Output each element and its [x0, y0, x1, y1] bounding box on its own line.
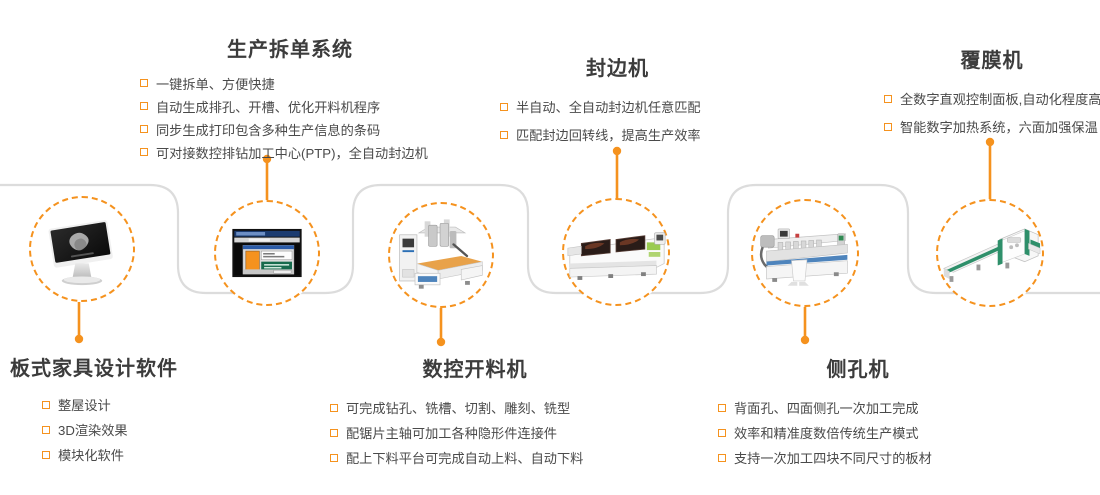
list-item-label: 同步生成打印包含多种生产信息的条码 [156, 123, 380, 138]
list-item-label: 可对接数控排钻加工中心(PTP)，全自动封边机 [156, 146, 428, 161]
checkbox-icon [42, 451, 50, 459]
checkbox-icon [718, 454, 726, 462]
checkbox-icon [718, 429, 726, 437]
list-item: 半自动、全自动封边机任意匹配 [500, 94, 735, 122]
bullet-list: 可完成钻孔、铣槽、切割、雕刻、铣型 配锯片主轴可加工各种隐形件连接件 配上下料平… [330, 396, 620, 471]
list-item: 配上下料平台可完成自动上料、自动下料 [330, 446, 620, 471]
list-item: 匹配封边回转线，提高生产效率 [500, 122, 735, 150]
list-item: 配锯片主轴可加工各种隐形件连接件 [330, 421, 620, 446]
list-item-label: 背面孔、四面侧孔一次加工完成 [734, 401, 919, 416]
node-design-software[interactable] [29, 196, 135, 302]
block-side-hole-drilling-machine: 侧孔机 背面孔、四面侧孔一次加工完成 效率和精准度数倍传统生产模式 支持一次加工… [718, 358, 998, 471]
side-driller-icon [753, 201, 857, 305]
node-split-software[interactable] [214, 200, 320, 306]
list-item: 背面孔、四面侧孔一次加工完成 [718, 396, 998, 421]
list-item-label: 模块化软件 [58, 448, 124, 463]
bullet-list: 整屋设计 3D渲染效果 模块化软件 [10, 393, 190, 468]
node-cnc-router[interactable] [388, 202, 494, 308]
list-item: 一键拆单、方便快捷 [140, 73, 440, 96]
infographic-canvas: 生产拆单系统 一键拆单、方便快捷 自动生成排孔、开槽、优化开料机程序 同步生成打… [0, 0, 1100, 495]
checkbox-icon [140, 102, 148, 110]
checkbox-icon [884, 123, 892, 131]
bullet-list: 背面孔、四面侧孔一次加工完成 效率和精准度数倍传统生产模式 支持一次加工四块不同… [718, 396, 998, 471]
laminator-icon [938, 201, 1042, 305]
checkbox-icon [330, 454, 338, 462]
list-item: 同步生成打印包含多种生产信息的条码 [140, 119, 440, 142]
node-edge-bander[interactable] [562, 198, 670, 306]
list-item-label: 3D渲染效果 [58, 423, 128, 438]
list-item-label: 匹配封边回转线，提高生产效率 [516, 128, 701, 143]
list-item: 智能数字加热系统，六面加强保温 [884, 114, 1100, 142]
software-screenshot-icon [216, 202, 318, 304]
block-title: 板式家具设计软件 [10, 357, 190, 381]
checkbox-icon [500, 103, 508, 111]
block-edge-banding-machine: 封边机 半自动、全自动封边机任意匹配 匹配封边回转线，提高生产效率 [500, 57, 735, 150]
block-title: 数控开料机 [330, 358, 620, 382]
checkbox-icon [500, 131, 508, 139]
block-cnc-cutting-machine: 数控开料机 可完成钻孔、铣槽、切割、雕刻、铣型 配锯片主轴可加工各种隐形件连接件… [330, 358, 620, 471]
block-production-split-order-system: 生产拆单系统 一键拆单、方便快捷 自动生成排孔、开槽、优化开料机程序 同步生成打… [140, 38, 440, 165]
list-item: 模块化软件 [42, 443, 190, 468]
list-item-label: 配上下料平台可完成自动上料、自动下料 [346, 451, 583, 466]
list-item-label: 全数字直观控制面板,自动化程度高 [900, 92, 1100, 107]
list-item: 可完成钻孔、铣槽、切割、雕刻、铣型 [330, 396, 620, 421]
list-item-label: 效率和精准度数倍传统生产模式 [734, 426, 919, 441]
list-item-label: 半自动、全自动封边机任意匹配 [516, 100, 701, 115]
bullet-list: 一键拆单、方便快捷 自动生成排孔、开槽、优化开料机程序 同步生成打印包含多种生产… [140, 73, 440, 165]
block-title: 封边机 [500, 57, 735, 81]
list-item: 自动生成排孔、开槽、优化开料机程序 [140, 96, 440, 119]
checkbox-icon [140, 125, 148, 133]
list-item-label: 智能数字加热系统，六面加强保温 [900, 120, 1098, 135]
list-item: 3D渲染效果 [42, 418, 190, 443]
list-item-label: 可完成钻孔、铣槽、切割、雕刻、铣型 [346, 401, 570, 416]
list-item-label: 配锯片主轴可加工各种隐形件连接件 [346, 426, 557, 441]
checkbox-icon [140, 79, 148, 87]
cnc-router-icon [390, 204, 492, 306]
list-item: 整屋设计 [42, 393, 190, 418]
edge-bander-icon [564, 200, 668, 304]
node-laminator[interactable] [936, 199, 1044, 307]
block-title: 覆膜机 [884, 49, 1100, 73]
list-item-label: 支持一次加工四块不同尺寸的板材 [734, 451, 932, 466]
bullet-list: 半自动、全自动封边机任意匹配 匹配封边回转线，提高生产效率 [500, 94, 735, 150]
list-item: 全数字直观控制面板,自动化程度高 [884, 86, 1100, 114]
imac-monitor-icon [31, 198, 133, 300]
list-item: 可对接数控排钻加工中心(PTP)，全自动封边机 [140, 142, 440, 165]
list-item: 支持一次加工四块不同尺寸的板材 [718, 446, 998, 471]
list-item-label: 一键拆单、方便快捷 [156, 77, 275, 92]
checkbox-icon [140, 148, 148, 156]
list-item-label: 自动生成排孔、开槽、优化开料机程序 [156, 100, 380, 115]
list-item: 效率和精准度数倍传统生产模式 [718, 421, 998, 446]
block-title: 生产拆单系统 [140, 38, 440, 62]
list-item-label: 整屋设计 [58, 398, 111, 413]
block-title: 侧孔机 [718, 358, 998, 382]
checkbox-icon [330, 404, 338, 412]
checkbox-icon [330, 429, 338, 437]
block-panel-furniture-design-software: 板式家具设计软件 整屋设计 3D渲染效果 模块化软件 [10, 357, 190, 468]
checkbox-icon [884, 95, 892, 103]
node-side-driller[interactable] [751, 199, 859, 307]
bullet-list: 全数字直观控制面板,自动化程度高 智能数字加热系统，六面加强保温 [884, 86, 1100, 142]
checkbox-icon [42, 426, 50, 434]
checkbox-icon [42, 401, 50, 409]
checkbox-icon [718, 404, 726, 412]
block-laminating-machine: 覆膜机 全数字直观控制面板,自动化程度高 智能数字加热系统，六面加强保温 [884, 49, 1100, 142]
